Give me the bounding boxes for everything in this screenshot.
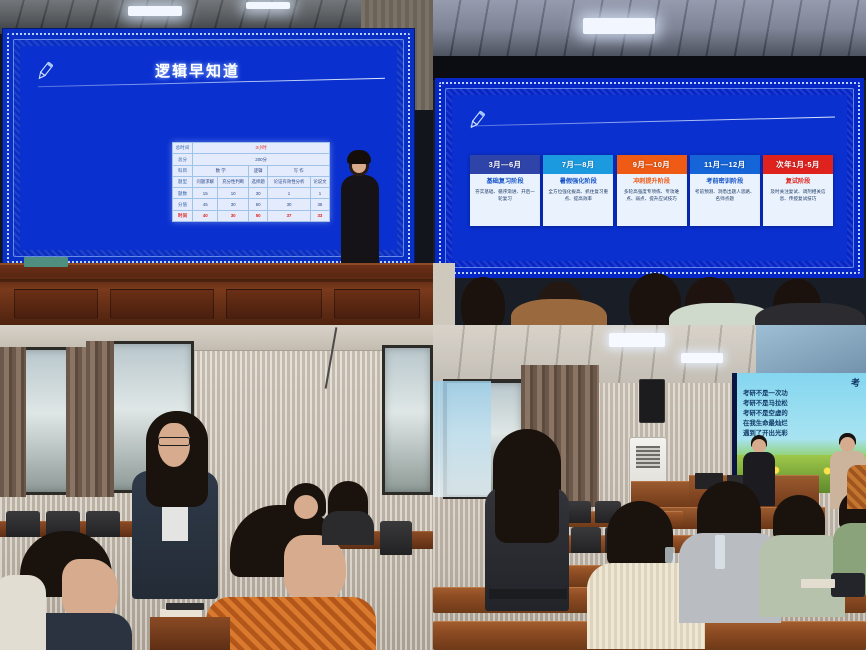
screen-line: 考研不是空虚的 — [743, 409, 864, 419]
card-period: 3月—6月 — [470, 155, 540, 174]
ceiling-light — [609, 333, 665, 347]
person-edge — [433, 263, 455, 325]
bag-on-bench — [831, 573, 865, 597]
curtain — [66, 347, 86, 497]
type-cell: 充分性判断 — [218, 176, 249, 187]
screen-title: 考 — [851, 376, 860, 389]
screen-line: 考研不是一次功 — [743, 389, 864, 399]
slide-title: 逻辑早知道 — [20, 60, 375, 81]
count-cell: 15 — [193, 188, 218, 199]
card-stage: 复试阶段 — [767, 178, 829, 186]
timeline-card: 11月—12月 考前密训阶段 考前预测、洞悉出题人思路、名师点题 — [690, 155, 760, 226]
student-top — [322, 511, 374, 545]
timeline-card: 9月—10月 冲刺提升阶段 多轮高强度专项练、专攻难点、弱点、提升应试技巧 — [617, 155, 687, 226]
card-desc: 夯实基础、循序渐进、开启一轮复习 — [474, 189, 536, 203]
book-on-desk — [24, 257, 68, 267]
type-cell: 问题求解 — [193, 176, 218, 187]
photo-panel-bottom-right: 考 考研不是一次功 考研不是马拉松 考研不是空虚的 在我生命最灿烂 遇到了开出光… — [433, 325, 866, 650]
screen-line: 在我生命最灿烂 — [743, 419, 864, 429]
student-plaid-top — [847, 465, 866, 509]
photo-panel-top-right: 3月—6月 基础复习阶段 夯实基础、循序渐进、开启一轮复习 7月—8月 暑假强化… — [433, 0, 866, 325]
desk-panel — [110, 289, 214, 319]
card-stage: 基础复习阶段 — [474, 178, 536, 186]
speaker-face — [752, 439, 766, 453]
seated-student-far — [847, 453, 866, 505]
audience-silhouettes — [433, 263, 866, 325]
timeline-cards: 3月—6月 基础复习阶段 夯实基础、循序渐进、开启一轮复习 7月—8月 暑假强化… — [470, 155, 833, 226]
type-cell: 选择题 — [249, 176, 268, 187]
screen-text-block: 考研不是一次功 考研不是马拉松 考研不是空虚的 在我生命最灿烂 遇到了开出光彩 — [743, 389, 864, 439]
wall-speaker-icon — [639, 379, 665, 423]
table-row-total-score: 总分 200分 — [173, 154, 330, 165]
card-period: 7月—8月 — [543, 155, 613, 174]
points-cell: 35 — [310, 199, 329, 210]
points-cell: 30 — [218, 199, 249, 210]
row-value: 3小时 — [193, 143, 330, 154]
glasses-icon — [158, 437, 190, 446]
water-bottle — [715, 535, 725, 569]
ceiling-light — [246, 2, 290, 9]
row-label: 总时间 — [173, 143, 193, 154]
card-period: 11月—12月 — [690, 155, 760, 174]
card-stage: 考前密训阶段 — [694, 178, 756, 186]
stage-desk — [0, 263, 433, 325]
count-cell: 1 — [310, 188, 329, 199]
window — [382, 345, 433, 495]
notebook-on-bench — [801, 579, 835, 588]
student-face — [294, 495, 318, 519]
card-desc: 及时关注复试、调剂相关信息、传授复试技巧 — [767, 189, 829, 203]
student-plaid-shirt — [206, 597, 376, 650]
seated-student-corner — [0, 557, 40, 650]
subject-writing: 写 作 — [268, 165, 330, 176]
table-row-count: 题数 15 10 30 1 1 — [173, 188, 330, 199]
phone-on-desk — [166, 603, 204, 610]
photo-panel-bottom-left — [0, 325, 433, 650]
row-label: 题型 — [173, 176, 193, 187]
card-stage: 暑假强化阶段 — [547, 178, 609, 186]
time-cell: 37 — [268, 210, 311, 221]
presenter-hair — [347, 150, 371, 164]
count-cell: 1 — [268, 188, 311, 199]
pencil-icon — [466, 109, 488, 131]
student-hair-front — [495, 431, 559, 543]
presenter-female — [339, 153, 381, 273]
audience-shoulders — [755, 303, 865, 325]
card-period: 9月—10月 — [617, 155, 687, 174]
standing-student — [132, 413, 222, 598]
row-label: 分值 — [173, 199, 193, 210]
student-face — [62, 559, 118, 621]
curtain — [86, 341, 114, 497]
title-underline — [470, 117, 835, 127]
table-row-total-time: 总时间 3小时 — [173, 143, 330, 154]
desk-front — [150, 617, 230, 650]
table-row-time: 时间 40 30 50 37 33 — [173, 210, 330, 221]
time-cell: 50 — [249, 210, 268, 221]
ceiling-light — [583, 18, 655, 34]
photo-collage: 逻辑早知道 总时间 3小时 总分 200分 科目 数 学 逻辑 写 作 — [0, 0, 866, 650]
type-cell: 论说文 — [310, 176, 329, 187]
standing-student-back — [489, 429, 565, 623]
audience-head — [461, 277, 505, 325]
timeline-card: 3月—6月 基础复习阶段 夯实基础、循序渐进、开启一轮复习 — [470, 155, 540, 226]
card-period: 次年1月-5月 — [763, 155, 833, 174]
count-cell: 10 — [218, 188, 249, 199]
card-desc: 考前预测、洞悉出题人思路、名师点题 — [694, 189, 756, 203]
card-desc: 多轮高强度专项练、专攻难点、弱点、提升应试技巧 — [621, 189, 683, 203]
card-desc: 全方位强化拔高、抓住复习重点、提高效率 — [547, 189, 609, 203]
time-cell: 33 — [310, 210, 329, 221]
small-screen-left — [433, 381, 491, 497]
timeline-card: 7月—8月 暑假强化阶段 全方位强化拔高、抓住复习重点、提高效率 — [543, 155, 613, 226]
row-value: 200分 — [193, 154, 330, 165]
row-label: 总分 — [173, 154, 193, 165]
presenter-body — [341, 175, 379, 273]
subject-math: 数 学 — [193, 165, 249, 176]
timeline-card: 次年1月-5月 复试阶段 及时关注复试、调剂相关信息、传授复试技巧 — [763, 155, 833, 226]
led-screen-timeline: 3月—6月 基础复习阶段 夯实基础、循序渐进、开启一轮复习 7月—8月 暑假强化… — [435, 78, 864, 278]
subject-logic: 逻辑 — [249, 165, 268, 176]
wall-dark-band — [433, 56, 866, 80]
count-cell: 30 — [249, 188, 268, 199]
card-body: 暑假强化阶段 全方位强化拔高、抓住复习重点、提高效率 — [543, 174, 613, 226]
table-row-subject: 科目 数 学 逻辑 写 作 — [173, 165, 330, 176]
card-body: 基础复习阶段 夯实基础、循序渐进、开启一轮复习 — [470, 174, 540, 226]
row-label: 题数 — [173, 188, 193, 199]
ceiling-light — [128, 6, 182, 16]
points-cell: 60 — [249, 199, 268, 210]
table-row-type: 题型 问题求解 充分性判断 选择题 论证有效性分析 论说文 — [173, 176, 330, 187]
belt — [489, 589, 567, 599]
photo-panel-top-left: 逻辑早知道 总时间 3小时 总分 200分 科目 数 学 逻辑 写 作 — [0, 0, 433, 325]
type-cell: 论证有效性分析 — [268, 176, 311, 187]
ac-vent — [636, 446, 660, 468]
desk-panel — [334, 289, 420, 319]
cup — [665, 547, 675, 563]
table-row-points: 分值 45 30 60 30 35 — [173, 199, 330, 210]
points-cell: 30 — [268, 199, 311, 210]
card-stage: 冲刺提升阶段 — [621, 178, 683, 186]
slide-canvas: 3月—6月 基础复习阶段 夯实基础、循序渐进、开启一轮复习 7月—8月 暑假强化… — [452, 95, 847, 261]
ceiling-light — [681, 353, 723, 363]
student-top — [0, 575, 46, 650]
row-label: 科目 — [173, 165, 193, 176]
card-body: 考前密训阶段 考前预测、洞悉出题人思路、名师点题 — [690, 174, 760, 226]
screen-line: 考研不是马拉松 — [743, 399, 864, 409]
seated-student-back-2 — [326, 481, 386, 547]
desk-panel — [226, 289, 322, 319]
time-cell: 40 — [193, 210, 218, 221]
time-cell: 30 — [218, 210, 249, 221]
row-label: 时间 — [173, 210, 193, 221]
desk-panel — [14, 289, 98, 319]
speaker-face — [840, 437, 855, 452]
card-body: 冲刺提升阶段 多轮高强度专项练、专攻难点、弱点、提升应试技巧 — [617, 174, 687, 226]
exam-structure-table: 总时间 3小时 总分 200分 科目 数 学 逻辑 写 作 题型 — [172, 142, 330, 222]
curtain — [0, 347, 26, 497]
points-cell: 45 — [193, 199, 218, 210]
card-body: 复试阶段 及时关注复试、调剂相关信息、传授复试技巧 — [763, 174, 833, 226]
audience-shoulders — [511, 299, 607, 325]
